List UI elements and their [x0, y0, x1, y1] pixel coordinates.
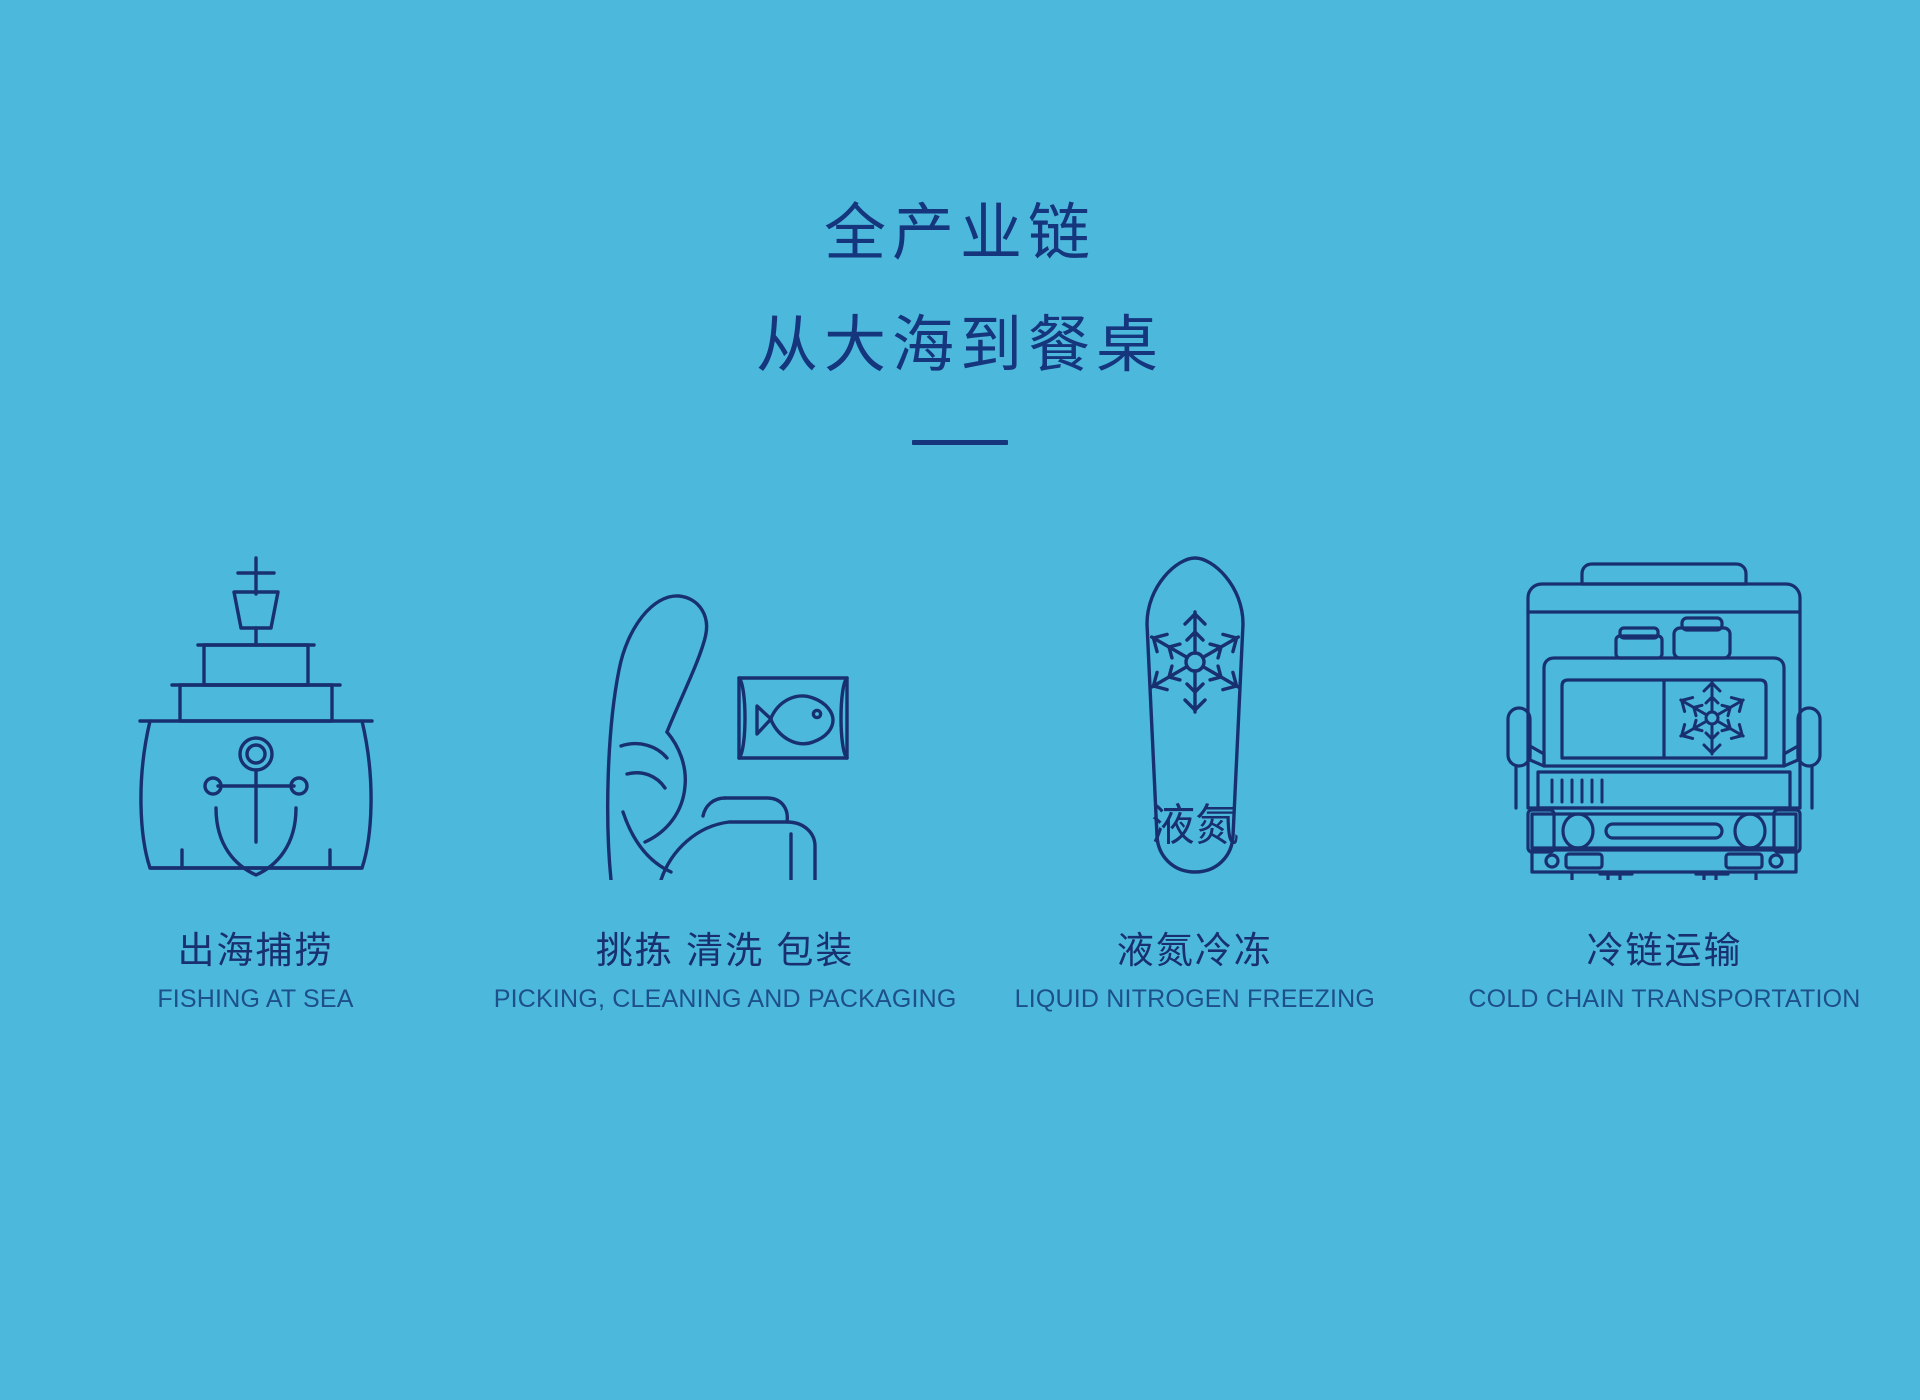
stage-labels: 液氮冷冻 LIQUID NITROGEN FREEZING: [1015, 929, 1375, 1016]
header: 全产业链 从大海到餐桌: [0, 0, 1920, 438]
title-divider-wrap: [0, 432, 1920, 438]
page-title-line-1: 全产业链: [0, 178, 1920, 290]
refrigerated-truck-icon-box: [1504, 535, 1824, 880]
stage-label-en: PICKING, CLEANING AND PACKAGING: [494, 982, 957, 1016]
stage-label-cn: 出海捕捞: [157, 929, 353, 973]
stage-columns: 出海捕捞 FISHING AT SEA: [0, 535, 1920, 1016]
liquid-nitrogen-tank-icon: 液氮: [1045, 550, 1345, 880]
stage-cold-chain-transportation[interactable]: 冷链运输 COLD CHAIN TRANSPORTATION: [1437, 535, 1892, 1016]
snowflake-icon: [1677, 682, 1747, 754]
stage-label-en: FISHING AT SEA: [157, 982, 353, 1016]
stage-label-cn: 挑拣 清洗 包装: [494, 929, 957, 973]
snowflake-icon: [1147, 612, 1244, 712]
title-divider: [912, 440, 1008, 445]
stage-picking-cleaning-packaging[interactable]: 挑拣 清洗 包装 PICKING, CLEANING AND PACKAGING: [498, 535, 953, 1016]
stage-label-cn: 冷链运输: [1468, 929, 1860, 973]
hands-fish-package-icon-box: [575, 535, 875, 880]
stage-labels: 挑拣 清洗 包装 PICKING, CLEANING AND PACKAGING: [494, 929, 957, 1016]
fishing-boat-icon-box: [106, 535, 406, 880]
liquid-nitrogen-tank-icon-box: 液氮: [1045, 535, 1345, 880]
stage-label-en: COLD CHAIN TRANSPORTATION: [1468, 982, 1860, 1016]
tank-caption: 液氮: [1151, 801, 1239, 850]
infographic-page: 全产业链 从大海到餐桌: [0, 0, 1920, 1400]
stage-fishing-at-sea[interactable]: 出海捕捞 FISHING AT SEA: [28, 535, 483, 1016]
stage-label-en: LIQUID NITROGEN FREEZING: [1015, 982, 1375, 1016]
page-title-line-2: 从大海到餐桌: [0, 290, 1920, 402]
stage-labels: 冷链运输 COLD CHAIN TRANSPORTATION: [1468, 929, 1860, 1016]
fishing-boat-icon: [106, 550, 406, 880]
refrigerated-truck-icon: [1504, 550, 1824, 880]
stage-liquid-nitrogen-freezing[interactable]: 液氮 液氮冷冻 LIQUID NITROGEN FREEZING: [967, 535, 1422, 1016]
stage-label-cn: 液氮冷冻: [1015, 929, 1375, 973]
stage-labels: 出海捕捞 FISHING AT SEA: [157, 929, 353, 1016]
hands-fish-package-icon: [575, 550, 875, 880]
